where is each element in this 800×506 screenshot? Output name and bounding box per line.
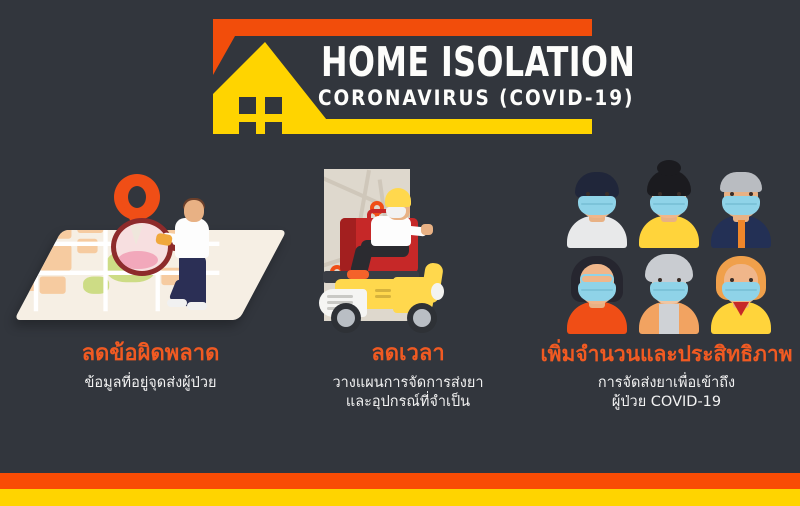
infographic-poster: HOME ISOLATION CORONAVIRUS (COVID-19) [0, 0, 800, 506]
face-mask-icon [650, 282, 688, 301]
person-figure [170, 198, 226, 313]
column-heading: เพิ่มจำนวนและประสิทธิภาพ [533, 341, 800, 367]
delivery-rider-figure [369, 188, 431, 274]
face-mask-icon [722, 196, 760, 215]
avatar-grid [555, 164, 781, 332]
avatar [705, 164, 777, 248]
scooter-wheel [407, 303, 437, 333]
avatar [705, 250, 777, 334]
header-top-bar [213, 19, 592, 36]
caption-line: และอุปกรณ์ที่จำเป็น [283, 393, 533, 412]
avatar [633, 250, 705, 334]
column-caption: วางแผนการจัดการส่งยา และอุปกรณ์ที่จำเป็น [283, 374, 533, 412]
column-caption: ข้อมูลที่อยู่จุดส่งผู้ป่วย [18, 374, 283, 393]
caption-line: วางแผนการจัดการส่งยา [283, 374, 533, 393]
page-subtitle: CORONAVIRUS (COVID-19) [318, 85, 582, 111]
face-mask-icon [578, 196, 616, 215]
footer-stripe-yellow [0, 489, 800, 506]
footer-stripe-orange [0, 473, 800, 489]
house-window [239, 122, 256, 139]
face-mask-icon [578, 282, 616, 301]
column-reduce-time: ลดเวลา วางแผนการจัดการส่งยา และอุปกรณ์ที… [283, 160, 533, 412]
caption-line: ผู้ป่วย COVID-19 [533, 393, 800, 412]
house-window [265, 122, 282, 139]
header-banner: HOME ISOLATION CORONAVIRUS (COVID-19) [0, 0, 800, 150]
helmet-icon [385, 188, 411, 207]
face-mask-icon [650, 196, 688, 215]
column-reduce-errors: ลดข้อผิดพลาด ข้อมูลที่อยู่จุดส่งผู้ป่วย [18, 160, 283, 393]
caption-line: ข้อมูลที่อยู่จุดส่งผู้ป่วย [18, 374, 283, 393]
map-location-pin-illustration [18, 160, 283, 335]
scooter-delivery-illustration [283, 160, 533, 335]
avatar [633, 164, 705, 248]
house-window [265, 97, 282, 114]
masked-people-illustration [533, 160, 800, 335]
magnifier-icon [111, 218, 173, 276]
face-mask-icon [386, 207, 406, 218]
scooter-wheel [331, 303, 361, 333]
column-heading: ลดข้อผิดพลาด [18, 341, 283, 367]
avatar [561, 250, 633, 334]
house-window [239, 97, 256, 114]
page-title: HOME ISOLATION [321, 40, 579, 84]
avatar [561, 164, 633, 248]
face-mask-icon [722, 282, 760, 301]
column-heading: ลดเวลา [283, 341, 533, 367]
caption-line: การจัดส่งยาเพื่อเข้าถึง [533, 374, 800, 393]
header-titles: HOME ISOLATION CORONAVIRUS (COVID-19) [300, 40, 600, 111]
column-caption: การจัดส่งยาเพื่อเข้าถึง ผู้ป่วย COVID-19 [533, 374, 800, 412]
columns-section: ลดข้อผิดพลาด ข้อมูลที่อยู่จุดส่งผู้ป่วย [0, 160, 800, 440]
column-increase-capacity: เพิ่มจำนวนและประสิทธิภาพ การจัดส่งยาเพื่… [533, 160, 800, 412]
